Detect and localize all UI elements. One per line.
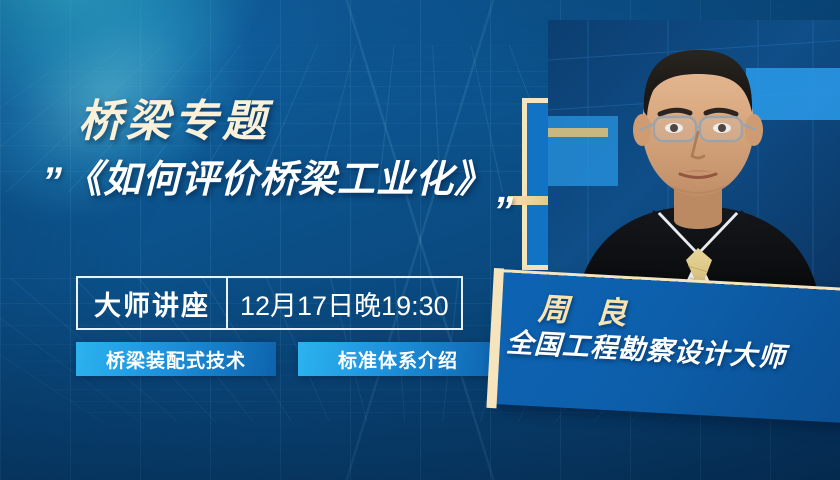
portrait-illustration bbox=[548, 20, 840, 304]
open-quote-mark: ” bbox=[42, 166, 60, 198]
topic-tag-2: 标准体系介绍 bbox=[298, 342, 498, 376]
topic-tags: 桥梁装配式技术 标准体系介绍 bbox=[76, 342, 498, 376]
subtitle-row: ” 《如何评价桥梁工业化》 „ bbox=[78, 160, 515, 201]
close-quote-mark: „ bbox=[497, 173, 515, 205]
headline-group: 桥梁专题 ” 《如何评价桥梁工业化》 „ bbox=[78, 100, 515, 201]
speaker-name-banner: 周 良 全国工程勘察设计大师 bbox=[491, 272, 840, 425]
lecture-info-box: 大师讲座 12月17日晚19:30 bbox=[76, 276, 463, 330]
speaker-photo bbox=[548, 20, 840, 304]
topic-tag-1: 桥梁装配式技术 bbox=[76, 342, 276, 376]
lecture-datetime: 12月17日晚19:30 bbox=[228, 278, 461, 328]
speaker-name-content: 周 良 全国工程勘察设计大师 bbox=[493, 272, 840, 380]
lecture-poster: 桥梁专题 ” 《如何评价桥梁工业化》 „ 大师讲座 12月17日晚19:30 桥… bbox=[0, 0, 840, 480]
lecture-category-label: 大师讲座 bbox=[78, 278, 226, 328]
lecture-subject-title: 《如何评价桥梁工业化》 bbox=[64, 160, 493, 201]
page-title: 桥梁专题 bbox=[78, 100, 515, 144]
